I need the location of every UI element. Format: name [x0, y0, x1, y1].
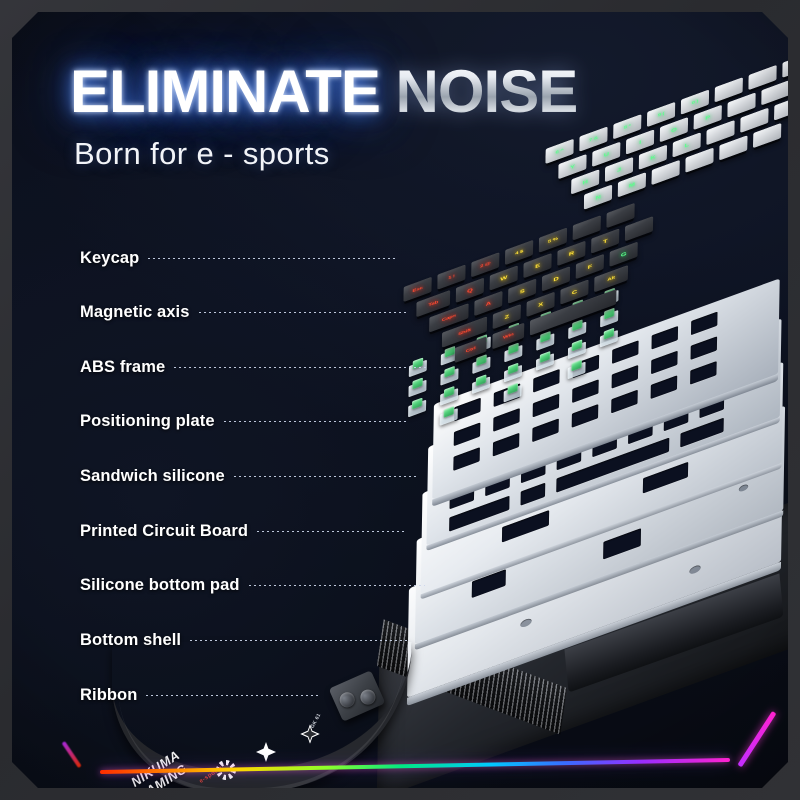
- callout-label: ABS frame: [80, 358, 165, 377]
- magnetic-switch: [472, 376, 490, 394]
- callout-label: Ribbon: [80, 686, 137, 705]
- callout-row: Silicone bottom pad: [80, 576, 425, 595]
- callout-row: Positioning plate: [80, 412, 406, 431]
- headline-word-eliminate: ELIMINATE: [70, 58, 380, 125]
- callout-label: Positioning plate: [80, 412, 215, 431]
- callout-label: Sandwich silicone: [80, 467, 225, 486]
- callout-row: Sandwich silicone: [80, 467, 416, 486]
- magnetic-switch: [504, 385, 522, 403]
- keycap[interactable]: [782, 52, 788, 78]
- callout-leader-line: [190, 640, 408, 641]
- callout-leader-line: [148, 258, 396, 259]
- page-title: ELIMINATE NOISE: [70, 62, 577, 122]
- callout-leader-line: [224, 421, 406, 422]
- callout-label: Printed Circuit Board: [80, 522, 248, 541]
- magnetic-switch: [568, 362, 586, 380]
- callout-leader-line: [249, 585, 425, 586]
- callout-leader-line: [199, 312, 409, 313]
- magnetic-switch: [440, 388, 458, 406]
- callout-row: Ribbon: [80, 686, 318, 705]
- callout-leader-line: [146, 695, 318, 696]
- magnetic-switch: [440, 408, 458, 426]
- clip-stud: [358, 687, 378, 707]
- callout-row: ABS frame: [80, 358, 426, 377]
- callout-leader-line: [234, 476, 416, 477]
- callout-leader-line: [174, 367, 426, 368]
- poster-panel: 6 ^ 7 & 8 * 9 ( 0 ) Y U I O P H: [12, 12, 788, 788]
- callout-row: Keycap: [80, 249, 396, 268]
- callout-row: Printed Circuit Board: [80, 522, 407, 541]
- callout-label: Silicone bottom pad: [80, 576, 240, 595]
- callout-leader-line: [257, 531, 407, 532]
- clip-stud: [337, 690, 357, 710]
- keyboard-exploded-view: 6 ^ 7 & 8 * 9 ( 0 ) Y U I O P H: [12, 12, 788, 788]
- magnetic-switch: [504, 365, 522, 383]
- callout-row: Bottom shell: [80, 631, 408, 650]
- magnetic-switch: [408, 400, 426, 418]
- headline-word-noise: NOISE: [396, 58, 578, 125]
- magnetic-switch: [536, 353, 554, 371]
- callout-label: Keycap: [80, 249, 139, 268]
- page-subtitle: Born for e - sports: [74, 136, 330, 172]
- callout-row: Magnetic axis: [80, 303, 409, 322]
- poster-frame: 6 ^ 7 & 8 * 9 ( 0 ) Y U I O P H: [0, 0, 800, 800]
- callout-label: Magnetic axis: [80, 303, 190, 322]
- callout-label: Bottom shell: [80, 631, 181, 650]
